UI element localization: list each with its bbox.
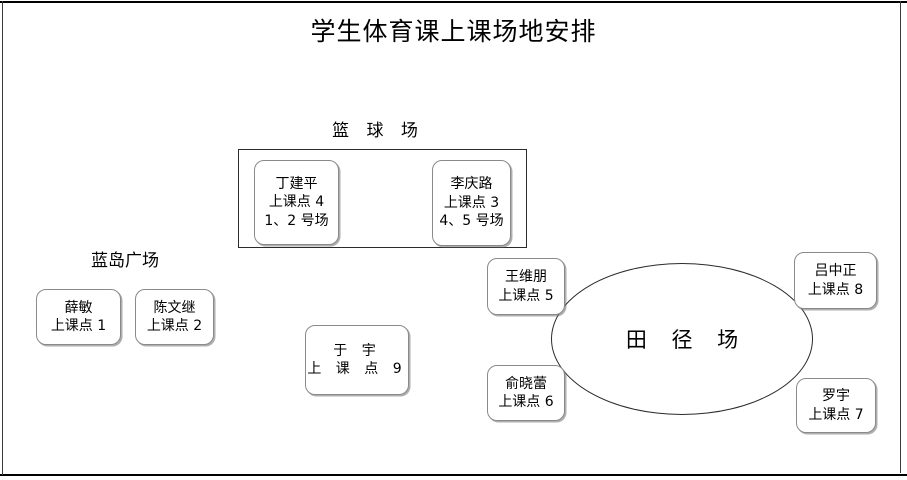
node-teacher-name: 俞晓蕾 bbox=[505, 375, 547, 393]
node-teacher-name: 于 宇 bbox=[333, 342, 380, 360]
node-teaching-point: 上 课 点 9 bbox=[307, 360, 406, 378]
page-frame-right-line bbox=[900, 1, 901, 473]
zone-label-basketball: 篮 球 场 bbox=[313, 116, 443, 141]
node-court-numbers: 4、5 号场 bbox=[439, 212, 503, 230]
teaching-point-node-1[interactable]: 薛敏 上课点 1 bbox=[36, 289, 121, 345]
teaching-point-node-7[interactable]: 罗宇 上课点 7 bbox=[796, 378, 876, 433]
diagram-canvas: 学生体育课上课场地安排 篮 球 场 丁建平 上课点 4 1、2 号场 李庆路 上… bbox=[0, 0, 907, 480]
zone-label-plaza: 蓝岛广场 bbox=[60, 246, 190, 271]
page-frame-bottom-line bbox=[0, 474, 907, 476]
node-teaching-point: 上课点 3 bbox=[444, 194, 499, 212]
node-court-numbers: 1、2 号场 bbox=[264, 212, 328, 230]
page-title: 学生体育课上课场地安排 bbox=[0, 12, 907, 48]
node-teaching-point: 上课点 7 bbox=[808, 406, 863, 424]
node-teacher-name: 王维朋 bbox=[505, 268, 547, 286]
teaching-point-node-9[interactable]: 于 宇 上 课 点 9 bbox=[305, 325, 409, 395]
teaching-point-node-4[interactable]: 丁建平 上课点 4 1、2 号场 bbox=[254, 160, 339, 245]
zone-label-track: 田 径 场 bbox=[617, 324, 747, 354]
teaching-point-node-5[interactable]: 王维朋 上课点 5 bbox=[487, 258, 565, 315]
node-teaching-point: 上课点 8 bbox=[808, 281, 863, 299]
node-teaching-point: 上课点 1 bbox=[51, 317, 106, 335]
teaching-point-node-3[interactable]: 李庆路 上课点 3 4、5 号场 bbox=[432, 160, 511, 246]
page-frame-top-line bbox=[0, 1, 907, 3]
node-teacher-name: 罗宇 bbox=[822, 387, 850, 405]
node-teaching-point: 上课点 5 bbox=[498, 287, 553, 305]
node-teacher-name: 李庆路 bbox=[451, 175, 493, 193]
node-teaching-point: 上课点 4 bbox=[269, 193, 324, 211]
teaching-point-node-6[interactable]: 俞晓蕾 上课点 6 bbox=[487, 365, 565, 421]
node-teaching-point: 上课点 2 bbox=[147, 317, 202, 335]
page-frame-left-line bbox=[2, 1, 3, 475]
node-teacher-name: 吕中正 bbox=[815, 262, 857, 280]
node-teacher-name: 陈文继 bbox=[154, 299, 196, 317]
node-teacher-name: 薛敏 bbox=[65, 299, 93, 317]
track-field-area: 田 径 场 bbox=[551, 263, 813, 415]
node-teacher-name: 丁建平 bbox=[276, 175, 318, 193]
node-teaching-point: 上课点 6 bbox=[498, 393, 553, 411]
teaching-point-node-8[interactable]: 吕中正 上课点 8 bbox=[794, 252, 877, 309]
teaching-point-node-2[interactable]: 陈文继 上课点 2 bbox=[135, 289, 214, 345]
